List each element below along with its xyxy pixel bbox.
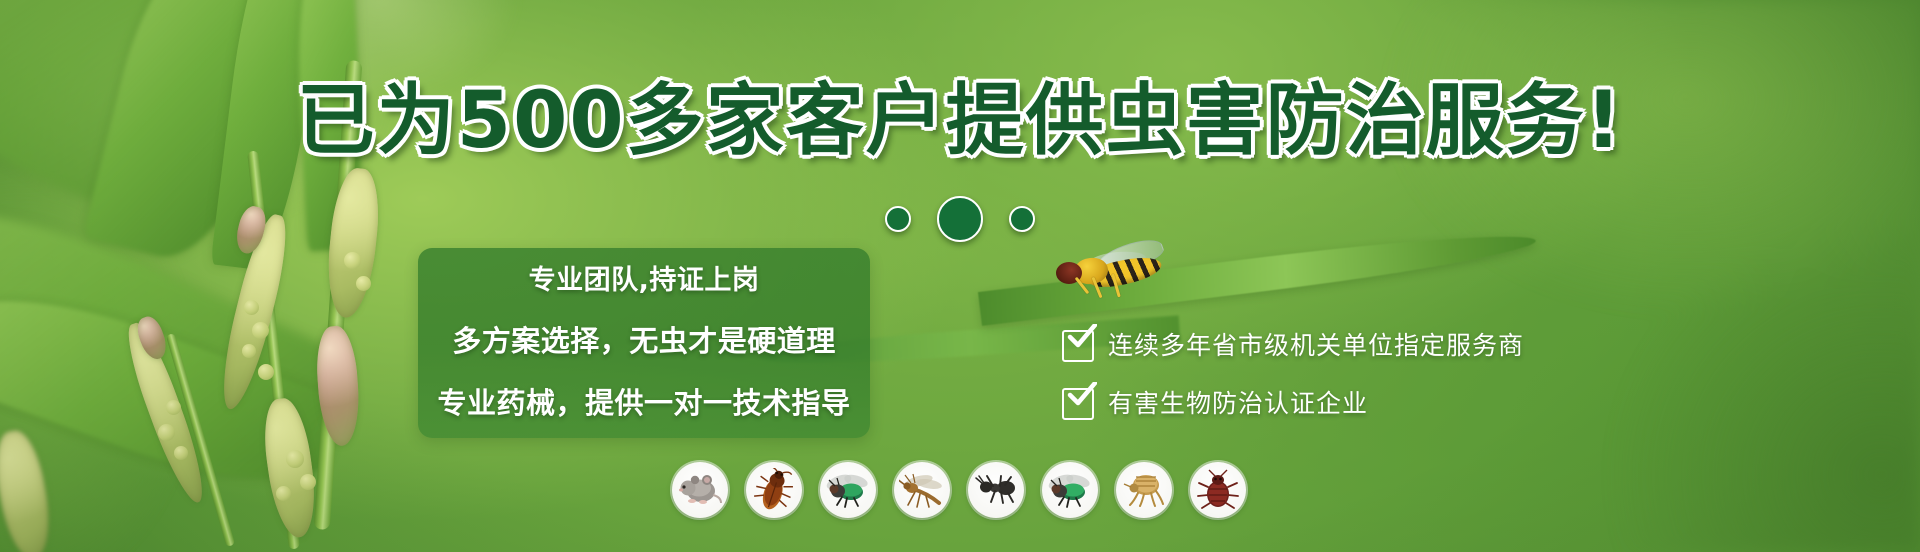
headline: 已为500多家客户提供虫害防治服务! <box>0 78 1920 164</box>
credential-item-2: 有害生物防治认证企业 <box>1062 388 1524 420</box>
cockroach-icon[interactable] <box>746 462 802 518</box>
credential-item-1: 连续多年省市级机关单位指定服务商 <box>1062 330 1524 362</box>
mosquito-icon[interactable] <box>894 462 950 518</box>
bedbug-icon[interactable] <box>1190 462 1246 518</box>
dot-large-center <box>937 196 983 242</box>
credentials-checklist: 连续多年省市级机关单位指定服务商 有害生物防治认证企业 <box>1062 330 1524 420</box>
housefly-icon[interactable] <box>820 462 876 518</box>
checkbox-checked-icon <box>1062 330 1094 362</box>
highlight-line-2: 多方案选择，无虫才是硬道理 <box>432 310 856 372</box>
headline-text: 已为500多家客户提供虫害防治服务! <box>297 76 1623 166</box>
ant-icon[interactable] <box>968 462 1024 518</box>
dot-small-right <box>1009 206 1035 232</box>
blowfly-icon[interactable] <box>1042 462 1098 518</box>
highlights-panel: 专业团队,持证上岗 多方案选择，无虫才是硬道理 专业药械，提供一对一技术指导 <box>418 248 870 438</box>
highlight-line-1: 专业团队,持证上岗 <box>432 252 856 310</box>
pest-control-banner: 已为500多家客户提供虫害防治服务! 专业团队,持证上岗 多方案选择，无虫才是硬… <box>0 0 1920 552</box>
hoverfly-illustration <box>1048 246 1168 306</box>
dot-small-left <box>885 206 911 232</box>
highlight-line-3: 专业药械，提供一对一技术指导 <box>432 372 856 434</box>
pest-icon-row <box>672 462 1246 518</box>
rodent-icon[interactable] <box>672 462 728 518</box>
flea-icon[interactable] <box>1116 462 1172 518</box>
credential-label-1: 连续多年省市级机关单位指定服务商 <box>1108 331 1524 361</box>
credential-label-2: 有害生物防治认证企业 <box>1108 389 1368 419</box>
checkbox-checked-icon <box>1062 388 1094 420</box>
decorative-dots <box>0 196 1920 242</box>
